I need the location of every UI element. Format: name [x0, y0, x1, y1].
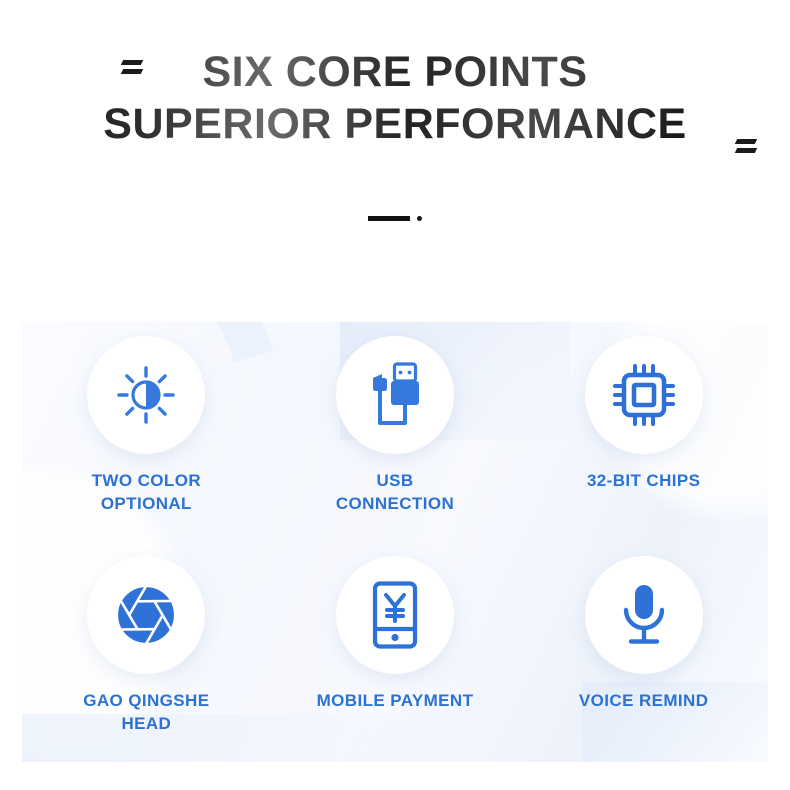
- title-line-2: SUPERIOR PERFORMANCE: [0, 98, 790, 150]
- microphone-icon: [616, 582, 672, 648]
- camera-aperture-icon: [115, 584, 177, 646]
- feature-label: VOICE REMIND: [579, 689, 708, 712]
- feature-item-two-color-optional[interactable]: TWO COLOR OPTIONAL: [22, 322, 271, 542]
- promo-page: SIX CORE POINTS SUPERIOR PERFORMANCE: [0, 0, 790, 790]
- feature-item-32-bit-chips[interactable]: 32-BIT CHIPS: [519, 322, 768, 542]
- feature-label: USB CONNECTION: [336, 469, 454, 515]
- feature-item-mobile-payment[interactable]: MOBILE PAYMENT: [271, 542, 520, 762]
- feature-item-usb-connection[interactable]: USB CONNECTION: [271, 322, 520, 542]
- icon-badge: [585, 336, 703, 454]
- icon-badge: [336, 556, 454, 674]
- icon-badge: [585, 556, 703, 674]
- cpu-chip-icon: [612, 363, 676, 427]
- feature-item-gao-qingshe-head[interactable]: GAO QINGSHE HEAD: [22, 542, 271, 762]
- usb-cable-icon: [364, 361, 426, 429]
- icon-badge: [336, 336, 454, 454]
- brightness-icon: [115, 364, 177, 426]
- double-slash-accent-right-icon: [736, 135, 762, 161]
- feature-item-voice-remind[interactable]: VOICE REMIND: [519, 542, 768, 762]
- page-title: SIX CORE POINTS SUPERIOR PERFORMANCE: [0, 46, 790, 150]
- divider-dot: [417, 216, 422, 221]
- feature-label: 32-BIT CHIPS: [587, 469, 700, 492]
- title-line-1: SIX CORE POINTS: [0, 46, 790, 98]
- double-slash-accent-left-icon: [122, 56, 148, 82]
- icon-badge: [87, 336, 205, 454]
- feature-label: GAO QINGSHE HEAD: [83, 689, 209, 735]
- title-divider: [0, 216, 790, 221]
- divider-bar: [368, 216, 410, 221]
- mobile-payment-icon: [369, 581, 421, 649]
- icon-badge: [87, 556, 205, 674]
- feature-label: TWO COLOR OPTIONAL: [92, 469, 201, 515]
- feature-grid: TWO COLOR OPTIONAL: [22, 322, 768, 762]
- feature-label: MOBILE PAYMENT: [317, 689, 474, 712]
